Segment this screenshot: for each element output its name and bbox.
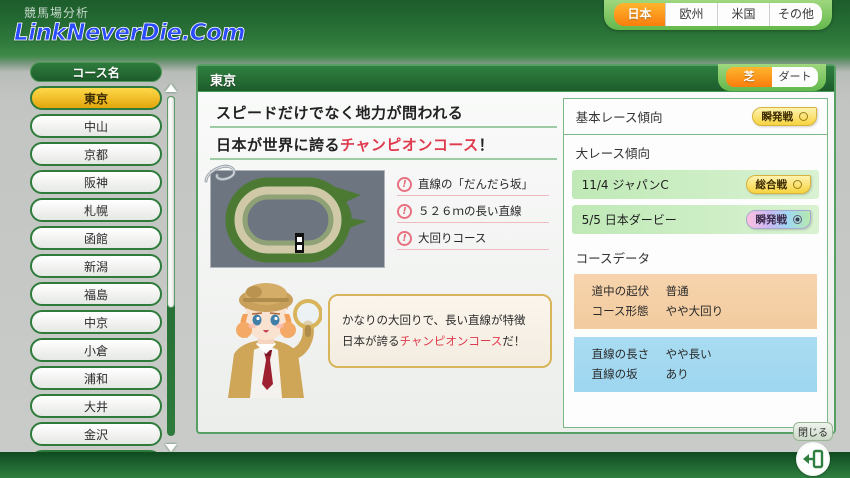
region-tab-bar: 日本欧州米国その他 [604, 0, 832, 30]
big-race-name: 5/5 日本ダービー [582, 211, 677, 228]
scroll-up-arrow-icon[interactable] [165, 84, 177, 92]
character-and-bubble-row: かなりの大回りで、長い直線が特徴 日本が誇るチャンピオンコースだ！ [210, 280, 557, 398]
course-list: 東京中山京都阪神札幌函館新潟福島中京小倉浦和大井金沢川崎 [30, 86, 162, 474]
close-button-label: 閉じる [793, 422, 833, 441]
course-data-terrain-block: 道中の起伏普通コース形態やや大回り [574, 274, 817, 329]
sidebar-item-0[interactable]: 東京 [30, 86, 162, 110]
straight-row-0: 直線の長さやや長い [574, 344, 817, 364]
sidebar-item-4[interactable]: 札幌 [30, 198, 162, 222]
feature-bullet-0: !直線の「だんだら坂」 [397, 174, 549, 196]
circle-rating-icon [793, 215, 802, 224]
watermark: LinkNeverDie.Com [14, 20, 245, 46]
big-race-badge: 総合戦 [746, 175, 812, 194]
panel-body: スピードだけでなく地力が問われる 日本が世界に誇るチャンピオンコース！ [198, 92, 834, 434]
basic-race-tendency-badge: 瞬発戦 [752, 107, 818, 126]
speech-bubble: かなりの大回りで、長い直線が特徴 日本が誇るチャンピオンコースだ！ [328, 294, 552, 368]
sidebar-item-9[interactable]: 小倉 [30, 338, 162, 362]
exclamation-icon: ! [397, 177, 412, 192]
sidebar-item-8[interactable]: 中京 [30, 310, 162, 334]
data-value: 普通 [666, 283, 689, 299]
region-tab-0[interactable]: 日本 [614, 3, 666, 26]
big-race-name: 11/4 ジャパンC [582, 176, 669, 193]
exit-left-arrow-icon [802, 449, 824, 469]
exclamation-icon: ! [397, 204, 412, 219]
basic-race-tendency-label: 基本レース傾向 [576, 107, 663, 126]
left-column: スピードだけでなく地力が問われる 日本が世界に誇るチャンピオンコース！ [198, 92, 563, 434]
close-icon-wrapper[interactable] [796, 442, 830, 476]
course-data-straight-block: 直線の長さやや長い直線の坂あり [574, 337, 817, 392]
data-value: やや長い [666, 346, 712, 362]
bubble-line-2: 日本が誇るチャンピオンコースだ！ [342, 331, 538, 352]
feature-bullet-label: ５２６ｍの長い直線 [418, 203, 522, 219]
data-value: やや大回り [666, 303, 724, 319]
scrollbar-track[interactable] [167, 96, 175, 436]
right-column: 基本レース傾向 瞬発戦 大レース傾向 11/4 ジャパンC総合戦5/5 日本ダー… [563, 98, 828, 428]
close-button[interactable]: 閉じる [790, 421, 836, 476]
headline-suffix: ！ [479, 136, 495, 154]
sidebar-header: コース名 [30, 62, 162, 82]
surface-tab-0[interactable]: 芝 [726, 67, 772, 87]
page-title: 東京 [210, 70, 236, 89]
feature-bullet-label: 直線の「だんだら坂」 [418, 176, 533, 192]
data-key: 直線の坂 [592, 366, 666, 382]
big-race-list: 11/4 ジャパンC総合戦5/5 日本ダービー瞬発戦 [564, 170, 827, 234]
circle-rating-icon [793, 180, 802, 189]
headline: スピードだけでなく地力が問われる 日本が世界に誇るチャンピオンコース！ [210, 100, 557, 160]
app-title: 競馬場分析 [24, 4, 89, 21]
sidebar-item-12[interactable]: 金沢 [30, 422, 162, 446]
sidebar-item-5[interactable]: 函館 [30, 226, 162, 250]
surface-tab-bar: 芝ダート [718, 64, 826, 91]
straight-row-1: 直線の坂あり [574, 364, 817, 384]
feature-bullet-2: !大回りコース [397, 228, 549, 250]
headline-accent: チャンピオンコース [340, 136, 479, 154]
panel-header: 東京 芝ダート [198, 66, 834, 92]
region-tab-2[interactable]: 米国 [718, 3, 770, 26]
bubble-prefix: 日本が誇る [342, 334, 400, 348]
data-value: あり [666, 366, 689, 382]
paperclip-icon [204, 162, 238, 186]
feature-bullet-1: !５２６ｍの長い直線 [397, 201, 549, 223]
exclamation-icon: ! [397, 231, 412, 246]
footer-bar [0, 452, 850, 478]
sidebar-item-1[interactable]: 中山 [30, 114, 162, 138]
badge-label: 瞬発戦 [756, 212, 788, 227]
badge-label: 総合戦 [756, 177, 788, 192]
circle-rating-icon [799, 112, 808, 121]
data-key: 直線の長さ [592, 346, 666, 362]
basic-race-tendency-section: 基本レース傾向 瞬発戦 [564, 99, 827, 135]
region-tab-3[interactable]: その他 [770, 3, 822, 26]
sidebar-item-10[interactable]: 浦和 [30, 366, 162, 390]
data-key: コース形態 [592, 303, 666, 319]
course-detail-panel: 東京 芝ダート スピードだけでなく地力が問われる 日本が世界に誇るチャンピオンコ… [196, 64, 836, 434]
big-race-badge: 瞬発戦 [746, 210, 812, 229]
map-and-bullets-row: !直線の「だんだら坂」!５２６ｍの長い直線!大回りコース [210, 170, 557, 268]
detective-girl-illustration [210, 280, 322, 398]
sidebar-item-7[interactable]: 福島 [30, 282, 162, 306]
bubble-line-1: かなりの大回りで、長い直線が特徴 [342, 310, 538, 331]
big-race-tendency-label: 大レース傾向 [564, 135, 827, 167]
sidebar-item-2[interactable]: 京都 [30, 142, 162, 166]
sidebar-item-3[interactable]: 阪神 [30, 170, 162, 194]
scrollbar-thumb[interactable] [167, 96, 175, 308]
sidebar-item-6[interactable]: 新潟 [30, 254, 162, 278]
scroll-down-arrow-icon[interactable] [165, 444, 177, 452]
region-tab-1[interactable]: 欧州 [666, 3, 718, 26]
bubble-suffix: だ！ [502, 334, 525, 348]
feature-bullet-list: !直線の「だんだら坂」!５２６ｍの長い直線!大回りコース [397, 170, 549, 268]
bubble-accent: チャンピオンコース [400, 334, 503, 348]
sidebar-item-11[interactable]: 大井 [30, 394, 162, 418]
course-data-label: コースデータ [564, 240, 827, 272]
big-race-row-1: 5/5 日本ダービー瞬発戦 [572, 205, 819, 234]
data-key: 道中の起伏 [592, 283, 666, 299]
headline-prefix: 日本が世界に誇る [216, 136, 340, 154]
terrain-row-1: コース形態やや大回り [574, 301, 817, 321]
headline-line-1: スピードだけでなく地力が問われる [210, 100, 557, 128]
terrain-row-0: 道中の起伏普通 [574, 281, 817, 301]
feature-bullet-label: 大回りコース [418, 230, 486, 246]
badge-label: 瞬発戦 [762, 109, 794, 124]
surface-tab-1[interactable]: ダート [772, 67, 818, 87]
course-list-scrollbar[interactable] [164, 84, 178, 452]
course-sidebar: コース名 東京中山京都阪神札幌函館新潟福島中京小倉浦和大井金沢川崎 [30, 62, 162, 474]
headline-line-2: 日本が世界に誇るチャンピオンコース！ [210, 132, 557, 160]
big-race-row-0: 11/4 ジャパンC総合戦 [572, 170, 819, 199]
